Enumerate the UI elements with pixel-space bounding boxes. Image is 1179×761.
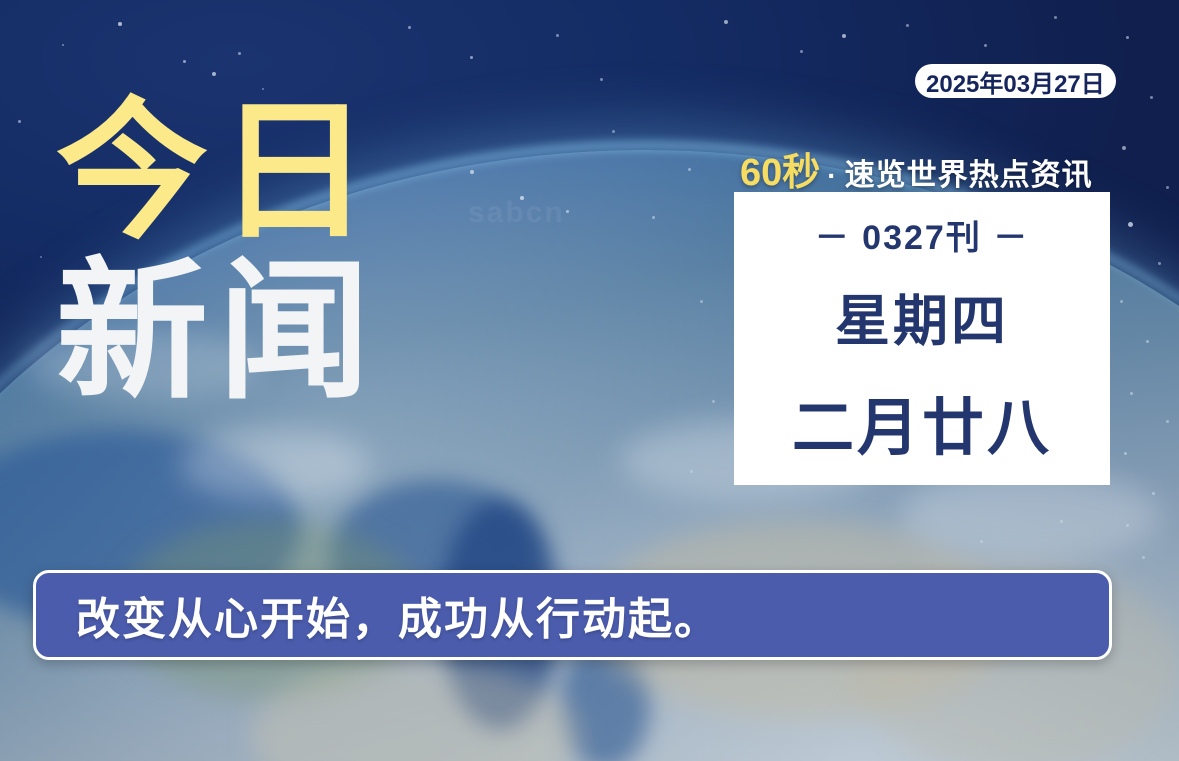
star [1158, 262, 1161, 265]
star [62, 44, 64, 46]
star [1130, 392, 1133, 395]
issue-info-card: － 0327刊 － 星期四 二月廿八 [734, 192, 1110, 485]
issue-number: － 0327刊 － [815, 210, 1030, 259]
star [1126, 36, 1129, 39]
tagline: 60秒 · 速览世界热点资讯 [740, 141, 1093, 196]
star [470, 170, 474, 174]
star [118, 22, 122, 26]
star [1150, 96, 1153, 99]
page-title-line1: 今日 [56, 96, 380, 248]
star [238, 52, 241, 55]
star [906, 24, 909, 27]
date-badge: 2025年03月27日 [915, 64, 1116, 98]
page-title-line2: 新闻 [56, 256, 380, 408]
star [212, 72, 216, 76]
page-title: 今日 新闻 [56, 96, 380, 408]
tagline-separator: · [827, 160, 836, 192]
motto-banner: 改变从心开始，成功从行动起。 [33, 570, 1112, 660]
star [1120, 300, 1123, 303]
weekday: 星期四 [835, 276, 1009, 356]
star [612, 130, 615, 133]
motto-text: 改变从心开始，成功从行动起。 [76, 583, 720, 647]
star [1122, 146, 1126, 150]
star [183, 60, 186, 63]
star [690, 470, 693, 473]
tagline-text: 速览世界热点资讯 [845, 150, 1093, 194]
star [408, 26, 411, 29]
star [1054, 16, 1057, 19]
watermark: sabcn [468, 196, 565, 230]
star [1142, 556, 1145, 559]
tagline-seconds: 60秒 [740, 141, 820, 196]
star [566, 210, 569, 213]
star [724, 20, 728, 24]
star [18, 120, 21, 123]
star [984, 44, 987, 47]
star [1152, 492, 1155, 495]
star [1126, 524, 1129, 527]
star [652, 216, 655, 219]
star [980, 540, 983, 543]
star [1166, 186, 1169, 189]
cloud-patch [180, 430, 370, 500]
star [556, 34, 559, 37]
star [688, 168, 691, 171]
star [842, 34, 846, 38]
star [1146, 340, 1149, 343]
star [1124, 452, 1127, 455]
star [600, 78, 603, 81]
star [40, 256, 42, 258]
star [800, 50, 803, 53]
news-poster: sabcn 今日 新闻 2025年03月27日 60秒 · 速览世界热点资讯 －… [0, 0, 1179, 761]
star [1166, 420, 1169, 423]
star [712, 400, 715, 403]
star [470, 56, 473, 59]
star [700, 300, 703, 303]
lunar-date: 二月廿八 [792, 377, 1052, 467]
star [1060, 520, 1063, 523]
star [1128, 222, 1133, 227]
